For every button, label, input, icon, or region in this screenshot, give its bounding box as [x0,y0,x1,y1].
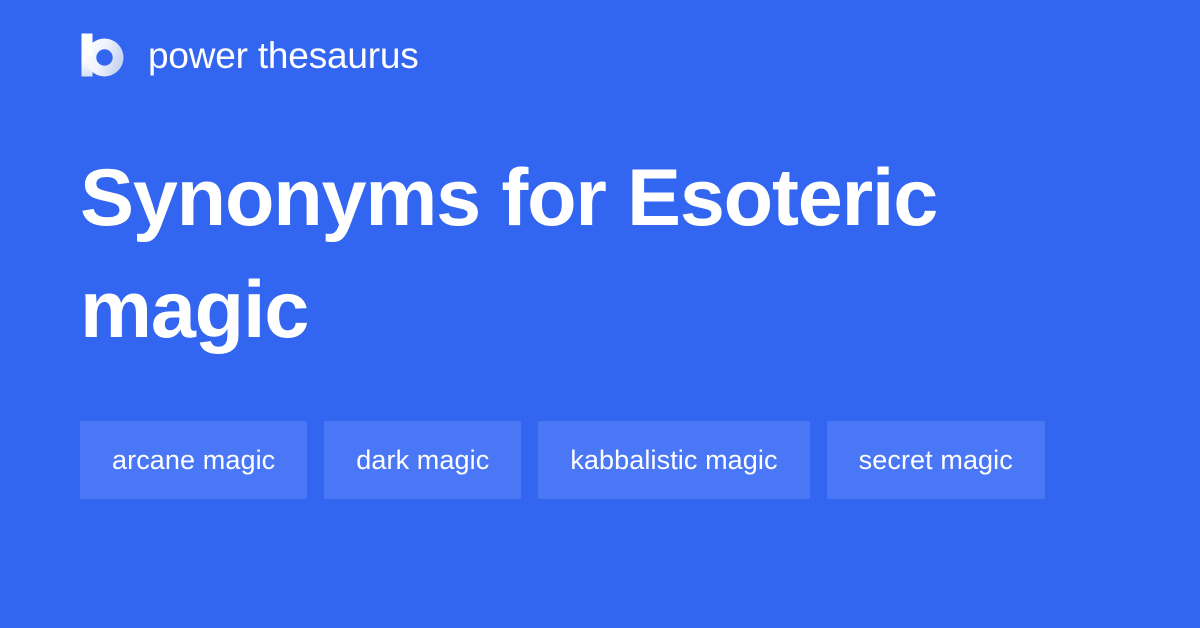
synonym-chip[interactable]: arcane magic [80,421,307,499]
synonym-chip[interactable]: secret magic [827,421,1045,499]
synonym-chip[interactable]: kabbalistic magic [538,421,809,499]
page-title: Synonyms for Esoteric magic [80,142,1080,366]
brand-name: power thesaurus [148,37,419,74]
synonym-chip-list: arcane magic dark magic kabbalistic magi… [80,421,1100,499]
power-thesaurus-b-logo-icon [80,32,126,78]
brand-header[interactable]: power thesaurus [80,30,419,80]
synonym-chip[interactable]: dark magic [324,421,521,499]
share-card: power thesaurus Synonyms for Esoteric ma… [0,0,1200,628]
